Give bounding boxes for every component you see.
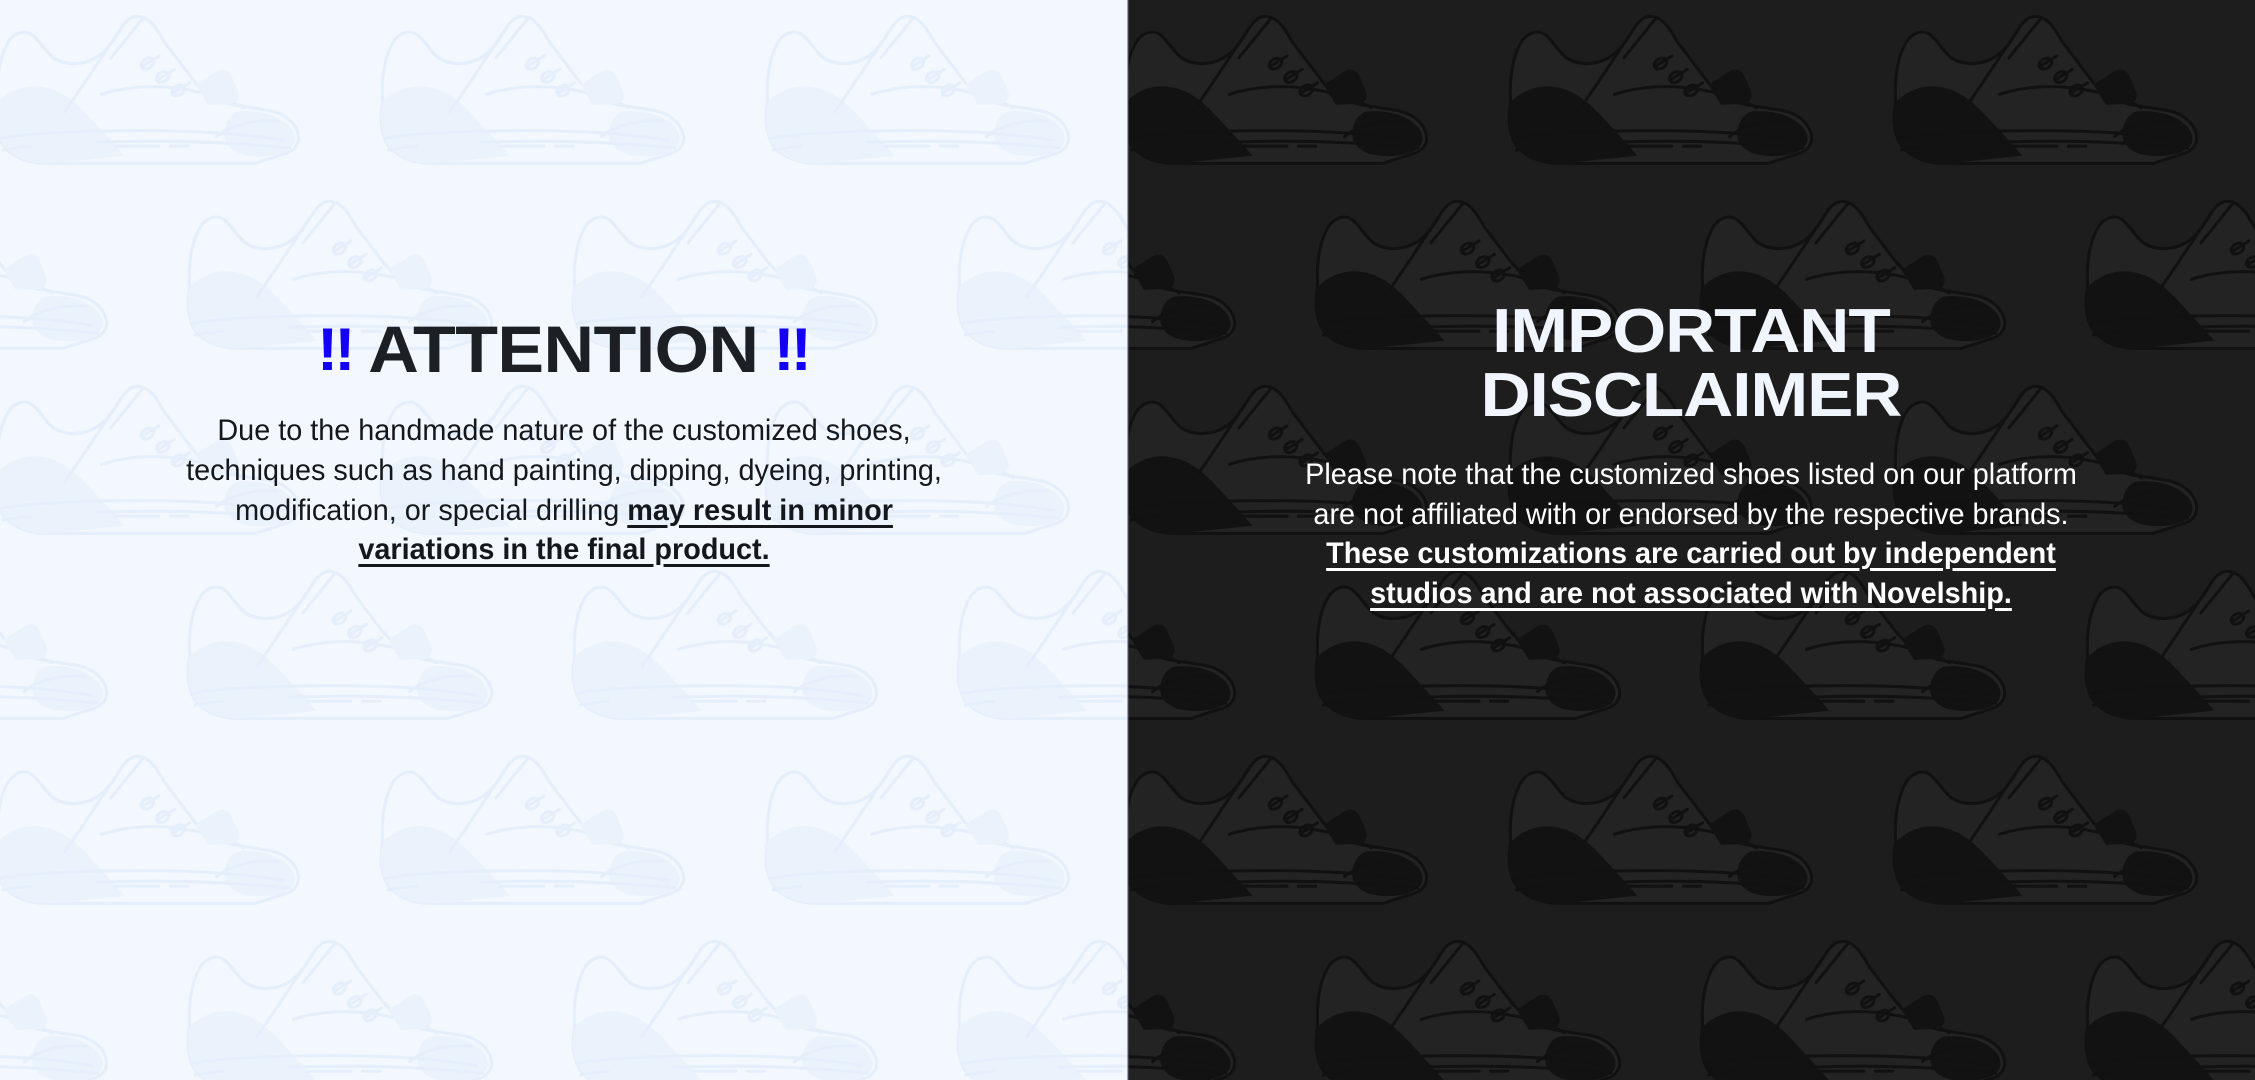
customization-notice-banner: ‼ATTENTION‼ Due to the handmade nature o… <box>0 0 2255 1080</box>
disclaimer-content: IMPORTANTDISCLAIMER Please note that the… <box>1261 0 2121 613</box>
disclaimer-body-normal: Please note that the customized shoes li… <box>1305 458 2077 531</box>
attention-heading-text: ATTENTION <box>369 312 759 386</box>
disclaimer-body: Please note that the customized shoes li… <box>1302 455 2080 613</box>
double-exclamation-icon-left: ‼ <box>317 316 353 383</box>
disclaimer-panel: IMPORTANTDISCLAIMER Please note that the… <box>1128 0 2255 1080</box>
attention-body: Due to the handmade nature of the custom… <box>185 411 943 569</box>
disclaimer-heading-line-1: IMPORTANT <box>1492 297 1890 366</box>
double-exclamation-icon-right: ‼ <box>774 316 810 383</box>
attention-heading: ‼ATTENTION‼ <box>317 318 810 381</box>
attention-content: ‼ATTENTION‼ Due to the handmade nature o… <box>134 0 994 570</box>
disclaimer-heading-line-2: DISCLAIMER <box>1481 361 1902 430</box>
disclaimer-body-emphasis: These customizations are carried out by … <box>1326 537 2056 610</box>
disclaimer-heading: IMPORTANTDISCLAIMER <box>1481 300 1902 429</box>
attention-panel: ‼ATTENTION‼ Due to the handmade nature o… <box>0 0 1128 1080</box>
panel-divider <box>1127 0 1129 1080</box>
